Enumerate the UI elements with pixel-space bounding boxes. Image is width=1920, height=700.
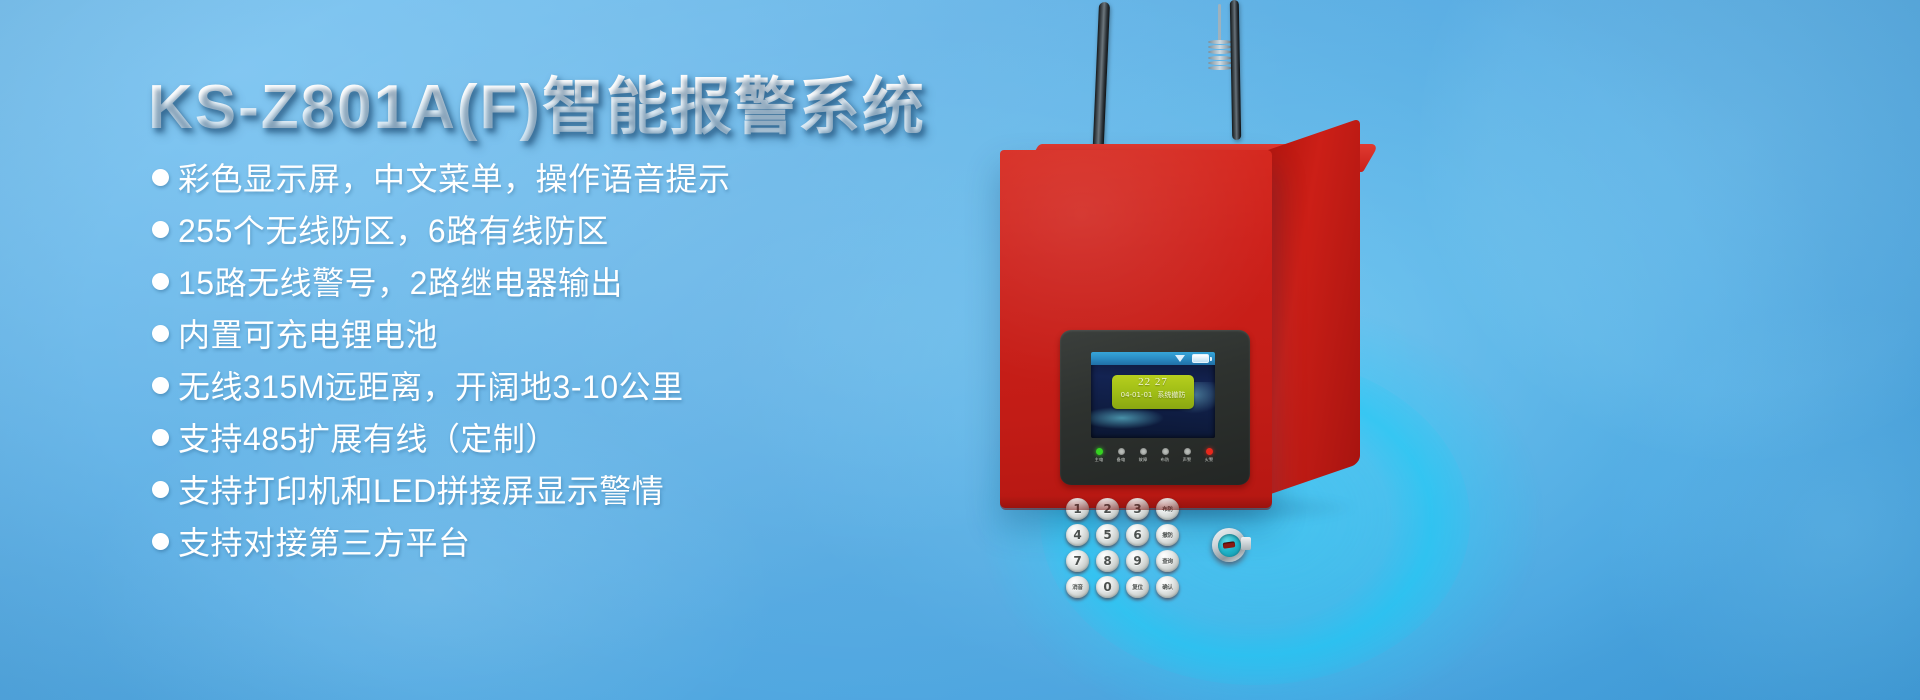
lcd-time: 22 27 [1112,375,1194,390]
lock-keyhole-icon [1223,541,1236,549]
list-item: 支持对接第三方平台 [152,518,1052,570]
led-light-icon [1118,448,1125,455]
enclosure-face: 22 27 04-01-01 系统撤防 主电 备电 [1000,150,1272,508]
list-item: 无线315M远距离，开阔地3-10公里 [152,362,1052,414]
list-item: 彩色显示屏，中文菜单，操作语音提示 [152,154,1052,206]
keypad[interactable]: 1 2 3 布防 4 5 6 撤防 7 8 9 查询 消音 0 复位 确认 [1066,498,1186,602]
alarm-control-panel: 22 27 04-01-01 系统撤防 主电 备电 [965,0,1525,700]
key-7[interactable]: 7 [1066,550,1089,572]
key-query[interactable]: 查询 [1156,550,1179,572]
page-title: KS-Z801A(F)智能报警系统 [148,56,926,146]
feature-text: 支持对接第三方平台 [178,518,471,564]
key-1[interactable]: 1 [1066,498,1089,520]
led-light-icon [1140,448,1147,455]
key-mute[interactable]: 消音 [1066,576,1089,598]
bullet-dot-icon [152,273,169,290]
signal-triangle-icon [1175,355,1185,362]
feature-list: 彩色显示屏，中文菜单，操作语音提示 255个无线防区，6路有线防区 15路无线警… [152,154,1052,570]
led-indicator-row: 主电 备电 故障 布防 [1090,448,1218,462]
key-arm[interactable]: 布防 [1156,498,1179,520]
key-2[interactable]: 2 [1096,498,1119,520]
led-label: 声警 [1178,457,1196,462]
rubber-antenna-right-icon [1230,0,1241,140]
led-label: 备电 [1112,457,1130,462]
led-light-icon [1206,448,1213,455]
led-light-icon [1184,448,1191,455]
key-4[interactable]: 4 [1066,524,1089,546]
lock-tab-icon [1241,537,1251,550]
lcd-screen: 22 27 04-01-01 系统撤防 [1091,352,1215,438]
led-indicator: 布防 [1156,448,1174,462]
lcd-status-bar [1091,352,1215,365]
battery-icon [1192,354,1209,363]
key-3[interactable]: 3 [1126,498,1149,520]
lcd-subline: 04-01-01 系统撤防 [1112,390,1194,400]
enclosure-side [1268,118,1360,495]
key-6[interactable]: 6 [1126,524,1149,546]
lcd-date: 04-01-01 [1121,390,1153,400]
coil-antenna-icon [1208,40,1232,74]
led-indicator: 火警 [1200,448,1218,462]
background-glow-bottom-right [1600,300,1920,700]
key-reset[interactable]: 复位 [1126,576,1149,598]
bullet-dot-icon [152,481,169,498]
led-light-icon [1162,448,1169,455]
led-indicator: 主电 [1090,448,1108,462]
led-label: 火警 [1200,457,1218,462]
led-indicator: 故障 [1134,448,1152,462]
led-label: 主电 [1090,457,1108,462]
feature-text: 15路无线警号，2路继电器输出 [178,258,623,304]
rubber-antenna-left-icon [1092,2,1110,164]
key-9[interactable]: 9 [1126,550,1149,572]
bullet-dot-icon [152,429,169,446]
key-0[interactable]: 0 [1096,576,1119,598]
led-indicator: 声警 [1178,448,1196,462]
feature-text: 255个无线防区，6路有线防区 [178,206,609,252]
key-confirm[interactable]: 确认 [1156,576,1179,598]
feature-text: 支持打印机和LED拼接屏显示警情 [178,466,664,512]
list-item: 255个无线防区，6路有线防区 [152,206,1052,258]
feature-text: 支持485扩展有线（定制） [178,414,558,460]
lock-cylinder-icon [1218,534,1241,557]
key-lock[interactable] [1212,528,1246,562]
list-item: 支持打印机和LED拼接屏显示警情 [152,466,1052,518]
key-5[interactable]: 5 [1096,524,1119,546]
lcd-status: 系统撤防 [1157,390,1185,400]
led-light-icon [1096,448,1103,455]
feature-text: 无线315M远距离，开阔地3-10公里 [178,362,684,408]
led-indicator: 备电 [1112,448,1130,462]
product-banner: KS-Z801A(F)智能报警系统 彩色显示屏，中文菜单，操作语音提示 255个… [0,0,1920,700]
lcd-info-card: 22 27 04-01-01 系统撤防 [1112,375,1194,409]
bullet-dot-icon [152,169,169,186]
feature-text: 内置可充电锂电池 [178,310,438,356]
key-disarm[interactable]: 撤防 [1156,524,1179,546]
display-bezel: 22 27 04-01-01 系统撤防 主电 备电 [1060,330,1250,485]
bullet-dot-icon [152,533,169,550]
led-label: 布防 [1156,457,1174,462]
coil-antenna-wire-icon [1218,4,1221,44]
led-label: 故障 [1134,457,1152,462]
list-item: 支持485扩展有线（定制） [152,414,1052,466]
list-item: 内置可充电锂电池 [152,310,1052,362]
bullet-dot-icon [152,325,169,342]
bullet-dot-icon [152,377,169,394]
feature-text: 彩色显示屏，中文菜单，操作语音提示 [178,154,731,200]
list-item: 15路无线警号，2路继电器输出 [152,258,1052,310]
key-8[interactable]: 8 [1096,550,1119,572]
bullet-dot-icon [152,221,169,238]
